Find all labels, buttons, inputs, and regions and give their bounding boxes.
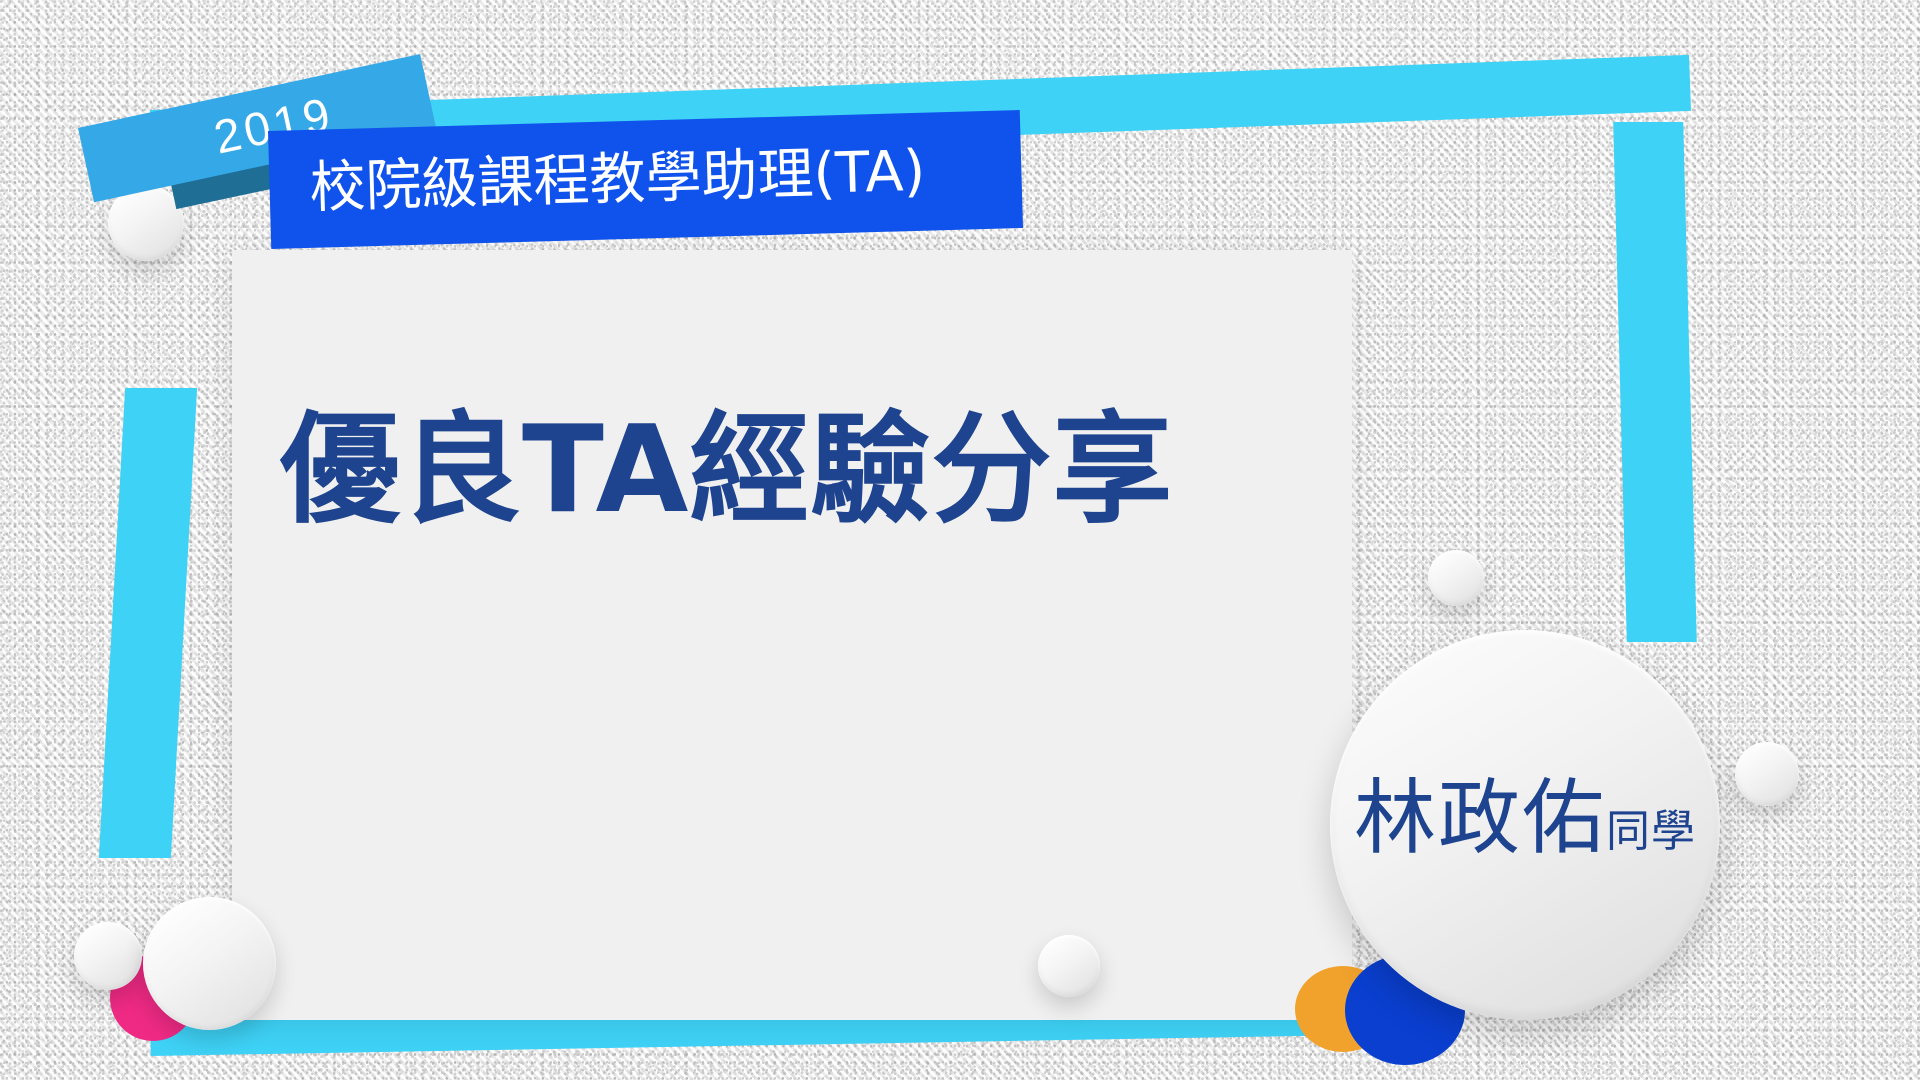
content-card: [232, 250, 1352, 1020]
circle-decoration-bottom-mid: [1038, 935, 1100, 997]
slide-canvas: 2019 校院級課程教學助理(TA) 優良TA經驗分享 林政佑同學: [0, 0, 1920, 1080]
presenter-badge: 林政佑同學: [1330, 630, 1720, 1020]
circle-decoration-right-sm: [1428, 550, 1484, 606]
frame-right-bar: [1613, 122, 1697, 642]
page-title: 優良TA經驗分享: [280, 400, 1180, 542]
presenter-name-block: 林政佑同學: [1330, 778, 1720, 860]
circle-decoration-bottom-left-sm: [74, 922, 142, 990]
circle-decoration-bottom-left-lg: [143, 897, 276, 1030]
presenter-suffix: 同學: [1606, 806, 1696, 857]
presenter-name: 林政佑: [1354, 771, 1606, 866]
circle-decoration-right-sm-2: [1735, 742, 1799, 806]
program-banner: 校院級課程教學助理(TA): [268, 110, 1023, 249]
program-banner-label: 校院級課程教學助理(TA): [269, 144, 926, 218]
